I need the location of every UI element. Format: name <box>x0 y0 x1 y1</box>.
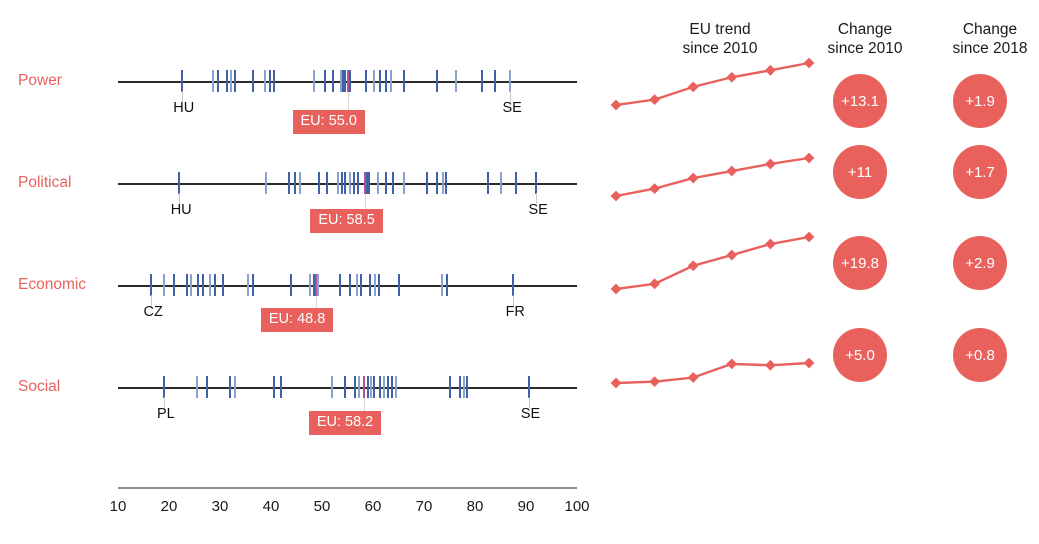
country-tick[interactable] <box>385 70 387 92</box>
axis-line-social <box>118 387 577 389</box>
eu-trend-sparkline-political <box>610 153 815 207</box>
sparkline-marker[interactable] <box>611 191 622 202</box>
country-tick[interactable] <box>339 274 341 296</box>
axis-line-political <box>118 183 577 185</box>
country-label-fr: FR <box>506 304 525 320</box>
country-tick[interactable] <box>354 376 356 398</box>
country-tick[interactable] <box>441 274 443 296</box>
sparkline-marker[interactable] <box>649 278 660 289</box>
country-tick[interactable] <box>535 172 537 194</box>
country-tick[interactable] <box>299 172 301 194</box>
country-tick[interactable] <box>344 376 346 398</box>
country-tick[interactable] <box>446 274 448 296</box>
change-bubble-2018-economic: +2.9 <box>953 236 1007 290</box>
sparkline-path <box>616 237 809 289</box>
country-tick[interactable] <box>202 274 204 296</box>
country-tick[interactable] <box>455 70 457 92</box>
sparkline-marker[interactable] <box>765 360 776 371</box>
country-tick[interactable] <box>214 274 216 296</box>
country-tick[interactable] <box>344 172 346 194</box>
row-label-social: Social <box>18 378 60 396</box>
change-bubble-2010-economic: +19.8 <box>833 236 887 290</box>
country-tick[interactable] <box>449 376 451 398</box>
column-header-change-2018: Change since 2018 <box>915 20 1039 58</box>
axis-tick-60: 60 <box>365 498 382 515</box>
country-tick[interactable] <box>358 376 360 398</box>
country-tick[interactable] <box>466 376 468 398</box>
country-tick[interactable] <box>290 274 292 296</box>
sparkline-marker[interactable] <box>804 358 815 368</box>
country-tick[interactable] <box>326 172 328 194</box>
country-tick[interactable] <box>353 172 355 194</box>
country-tick[interactable] <box>379 376 381 398</box>
country-tick[interactable] <box>349 172 351 194</box>
axis-tick-20: 20 <box>161 498 178 515</box>
country-label-se: SE <box>529 202 548 218</box>
sparkline-marker[interactable] <box>611 284 622 295</box>
sparkline-marker[interactable] <box>726 166 737 177</box>
sparkline-marker[interactable] <box>649 183 660 194</box>
country-tick[interactable] <box>500 172 502 194</box>
country-tick[interactable] <box>206 376 208 398</box>
sparkline-marker[interactable] <box>611 378 622 389</box>
country-tick[interactable] <box>264 70 266 92</box>
country-tick[interactable] <box>445 172 447 194</box>
sparkline-marker[interactable] <box>804 232 815 242</box>
sparkline-marker[interactable] <box>726 359 737 370</box>
country-tick[interactable] <box>331 376 333 398</box>
country-tick[interactable] <box>234 376 236 398</box>
country-tick[interactable] <box>294 172 296 194</box>
country-tick[interactable] <box>391 376 393 398</box>
sparkline-marker[interactable] <box>765 159 776 170</box>
sparkline-marker[interactable] <box>649 376 660 387</box>
country-tick[interactable] <box>374 274 376 296</box>
change-bubble-2018-social: +0.8 <box>953 328 1007 382</box>
country-tick[interactable] <box>487 172 489 194</box>
country-tick[interactable] <box>509 70 511 92</box>
country-tick[interactable] <box>367 376 369 398</box>
sparkline-marker[interactable] <box>688 173 699 184</box>
axis-tick-70: 70 <box>416 498 433 515</box>
sparkline-marker[interactable] <box>688 260 699 271</box>
eu-trend-sparkline-economic <box>610 232 815 300</box>
country-tick[interactable] <box>481 70 483 92</box>
sparkline-path <box>616 363 809 383</box>
country-tick[interactable] <box>365 70 367 92</box>
country-tick[interactable] <box>324 70 326 92</box>
country-tick[interactable] <box>373 376 375 398</box>
country-tick[interactable] <box>288 172 290 194</box>
eu-value-badge-political: EU: 58.5 <box>310 209 382 233</box>
country-tick[interactable] <box>463 376 465 398</box>
country-tick[interactable] <box>383 376 385 398</box>
country-label-hu: HU <box>171 202 192 218</box>
country-tick[interactable] <box>332 70 334 92</box>
row-label-power: Power <box>18 72 62 90</box>
eu-value-tick[interactable] <box>364 172 366 194</box>
country-tick[interactable] <box>190 274 192 296</box>
change-bubble-2010-power: +13.1 <box>833 74 887 128</box>
country-tick[interactable] <box>385 172 387 194</box>
row-label-economic: Economic <box>18 276 86 294</box>
country-tick[interactable] <box>150 274 152 296</box>
sparkline-marker[interactable] <box>611 100 622 111</box>
country-tick[interactable] <box>370 376 372 398</box>
eu-value-badge-social: EU: 58.2 <box>309 411 381 435</box>
axis-tick-50: 50 <box>314 498 331 515</box>
country-tick[interactable] <box>349 274 351 296</box>
country-tick[interactable] <box>373 70 375 92</box>
eu-value-tick[interactable] <box>363 376 365 398</box>
country-tick[interactable] <box>181 70 183 92</box>
sparkline-marker[interactable] <box>765 65 776 76</box>
sparkline-marker[interactable] <box>765 239 776 250</box>
country-tick[interactable] <box>369 274 371 296</box>
country-tick[interactable] <box>341 172 343 194</box>
country-tick[interactable] <box>512 274 514 296</box>
change-bubble-2018-power: +1.9 <box>953 74 1007 128</box>
bottom-axis-line <box>118 487 577 489</box>
eu-badge-leader-line <box>364 398 365 411</box>
sparkline-marker[interactable] <box>726 250 737 261</box>
eu-trend-sparkline-power <box>610 58 815 116</box>
country-tick[interactable] <box>392 172 394 194</box>
country-tick[interactable] <box>515 172 517 194</box>
country-tick[interactable] <box>273 70 275 92</box>
country-tick[interactable] <box>403 172 405 194</box>
country-tick[interactable] <box>378 274 380 296</box>
eu-trend-sparkline-social <box>610 358 815 394</box>
country-tick[interactable] <box>356 274 358 296</box>
country-tick[interactable] <box>269 70 271 92</box>
country-label-pl: PL <box>157 406 175 422</box>
country-tick[interactable] <box>379 70 381 92</box>
eu-value-tick[interactable] <box>315 274 317 296</box>
country-tick[interactable] <box>217 70 219 92</box>
country-tick[interactable] <box>426 172 428 194</box>
country-tick[interactable] <box>377 172 379 194</box>
axis-tick-40: 40 <box>263 498 280 515</box>
country-tick[interactable] <box>230 70 232 92</box>
eu-badge-leader-line <box>348 92 349 110</box>
country-tick[interactable] <box>398 274 400 296</box>
eu-value-badge-economic: EU: 48.8 <box>261 308 333 332</box>
country-tick[interactable] <box>387 376 389 398</box>
eu-value-badge-power: EU: 55.0 <box>293 110 365 134</box>
country-tick[interactable] <box>395 376 397 398</box>
sparkline-marker[interactable] <box>804 153 815 163</box>
country-tick[interactable] <box>357 172 359 194</box>
country-tick[interactable] <box>196 376 198 398</box>
axis-tick-30: 30 <box>212 498 229 515</box>
axis-tick-100: 100 <box>564 498 589 515</box>
country-tick[interactable] <box>403 70 405 92</box>
sparkline-marker[interactable] <box>726 72 737 83</box>
country-tick[interactable] <box>337 172 339 194</box>
country-tick[interactable] <box>265 172 267 194</box>
sparkline-path <box>616 63 809 105</box>
country-tick[interactable] <box>368 172 370 194</box>
change-bubble-2018-political: +1.7 <box>953 145 1007 199</box>
country-tick[interactable] <box>222 274 224 296</box>
country-label-cz: CZ <box>143 304 162 320</box>
country-label-se: SE <box>503 100 522 116</box>
country-tick[interactable] <box>163 274 165 296</box>
country-tick[interactable] <box>178 172 180 194</box>
country-tick[interactable] <box>390 70 392 92</box>
country-tick[interactable] <box>528 376 530 398</box>
country-label-se: SE <box>521 406 540 422</box>
country-tick[interactable] <box>436 70 438 92</box>
change-bubble-2010-political: +11 <box>833 145 887 199</box>
country-tick[interactable] <box>349 70 351 92</box>
country-tick[interactable] <box>229 376 231 398</box>
change-bubble-2010-social: +5.0 <box>833 328 887 382</box>
sparkline-marker[interactable] <box>649 94 660 105</box>
sparkline-path <box>616 158 809 196</box>
country-tick[interactable] <box>252 274 254 296</box>
country-tick[interactable] <box>234 70 236 92</box>
axis-tick-10: 10 <box>110 498 127 515</box>
axis-tick-90: 90 <box>518 498 535 515</box>
country-tick[interactable] <box>313 70 315 92</box>
country-tick[interactable] <box>173 274 175 296</box>
column-header-eu-trend: EU trend since 2010 <box>640 20 800 58</box>
country-tick[interactable] <box>226 70 228 92</box>
country-tick[interactable] <box>209 274 211 296</box>
country-tick[interactable] <box>317 274 319 296</box>
eu-badge-leader-line <box>365 194 366 209</box>
axis-tick-80: 80 <box>467 498 484 515</box>
country-tick[interactable] <box>280 376 282 398</box>
country-tick[interactable] <box>436 172 438 194</box>
country-tick[interactable] <box>247 274 249 296</box>
sparkline-marker[interactable] <box>688 81 699 92</box>
country-tick[interactable] <box>442 172 444 194</box>
country-tick[interactable] <box>309 274 311 296</box>
country-label-hu: HU <box>173 100 194 116</box>
country-tick[interactable] <box>360 274 362 296</box>
eu-badge-leader-line <box>316 296 317 308</box>
country-tick[interactable] <box>186 274 188 296</box>
country-tick[interactable] <box>163 376 165 398</box>
country-tick[interactable] <box>494 70 496 92</box>
country-tick[interactable] <box>273 376 275 398</box>
sparkline-marker[interactable] <box>688 372 699 383</box>
country-tick[interactable] <box>252 70 254 92</box>
country-tick[interactable] <box>197 274 199 296</box>
eu-value-tick[interactable] <box>347 70 349 92</box>
country-tick[interactable] <box>459 376 461 398</box>
country-tick[interactable] <box>212 70 214 92</box>
row-label-political: Political <box>18 174 71 192</box>
sparkline-marker[interactable] <box>804 58 815 68</box>
country-tick[interactable] <box>318 172 320 194</box>
